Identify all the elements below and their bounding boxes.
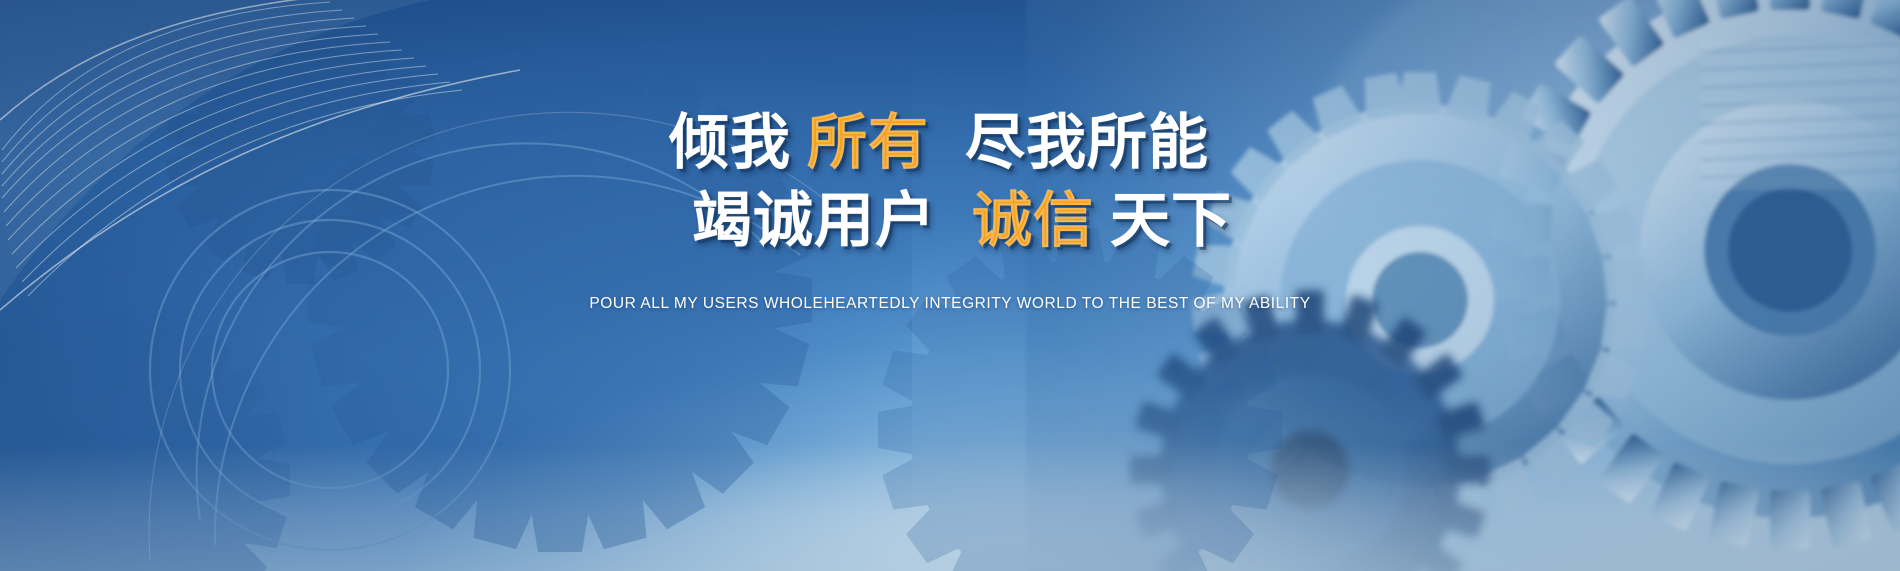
headline-line-1: 倾我 所有 尽我所能 bbox=[669, 113, 1209, 173]
headline-line2-part3: 天下 bbox=[1110, 191, 1232, 251]
headline-line-2: 竭诚用户 诚信 天下 bbox=[692, 191, 1232, 251]
hero-banner: 倾我 所有 尽我所能 竭诚用户 诚信 天下 POUR ALL MY USERS … bbox=[0, 0, 1900, 571]
headline-line1-part2: 所有 bbox=[807, 113, 929, 173]
headline-line1-part1: 倾我 bbox=[669, 113, 791, 173]
headline-line1-part3: 尽我所能 bbox=[965, 113, 1209, 173]
headline-line2-part1: 竭诚用户 bbox=[692, 191, 936, 251]
banner-subtitle: POUR ALL MY USERS WHOLEHEARTEDLY INTEGRI… bbox=[589, 295, 1310, 313]
headline-block: 倾我 所有 尽我所能 竭诚用户 诚信 天下 POUR ALL MY USERS … bbox=[0, 0, 1900, 571]
headline-line2-part2: 诚信 bbox=[972, 191, 1094, 251]
